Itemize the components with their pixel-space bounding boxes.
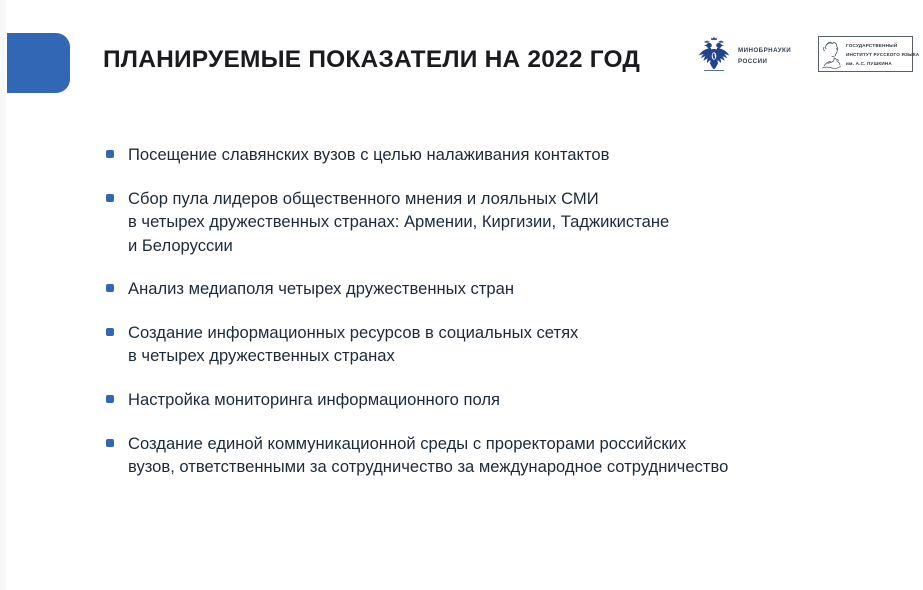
list-item-text: Настройка мониторинга информационного по… [128, 388, 500, 412]
minobrnauki-logo-text: МИНОБРНАУКИ РОССИИ [738, 45, 791, 68]
bullet-square-icon [106, 194, 114, 202]
list-item: Сбор пула лидеров общественного мнения и… [106, 187, 896, 258]
bullet-square-icon [106, 284, 114, 292]
list-item: Создание единой коммуникационной среды с… [106, 432, 896, 479]
pushkin-institute-logo-text: ГОСУДАРСТВЕННЫЙ ИНСТИТУТ РУССКОГО ЯЗЫКА … [846, 40, 919, 69]
list-item-text: Сбор пула лидеров общественного мнения и… [128, 187, 669, 258]
list-item: Настройка мониторинга информационного по… [106, 388, 896, 412]
pushkin-line-1: ГОСУДАРСТВЕННЫЙ [846, 43, 897, 48]
list-item-text: Создание единой коммуникационной среды с… [128, 432, 728, 479]
minobrnauki-line-2: РОССИИ [738, 58, 767, 65]
presentation-slide: ПЛАНИРУЕМЫЕ ПОКАЗАТЕЛИ НА 2022 ГОД [0, 0, 923, 590]
list-item: Анализ медиаполя четырех дружественных с… [106, 277, 896, 301]
list-item: Создание информационных ресурсов в социа… [106, 321, 896, 368]
slide-left-edge [0, 0, 6, 590]
double-headed-eagle-icon [697, 36, 731, 76]
pushkin-profile-icon [821, 40, 843, 70]
accent-tab-shape [7, 33, 70, 93]
bullet-square-icon [106, 395, 114, 403]
list-item-text: Посещение славянских вузов с целью налаж… [128, 143, 609, 167]
minobrnauki-logo: МИНОБРНАУКИ РОССИИ [697, 36, 791, 76]
list-item-text: Создание информационных ресурсов в социа… [128, 321, 578, 368]
bullet-square-icon [106, 328, 114, 336]
bullet-square-icon [106, 439, 114, 447]
pushkin-institute-logo: ГОСУДАРСТВЕННЫЙ ИНСТИТУТ РУССКОГО ЯЗЫКА … [818, 36, 913, 72]
minobrnauki-line-1: МИНОБРНАУКИ [738, 47, 791, 54]
pushkin-line-2: ИНСТИТУТ РУССКОГО ЯЗЫКА [846, 52, 919, 57]
list-item: Посещение славянских вузов с целью налаж… [106, 143, 896, 167]
bullet-list: Посещение славянских вузов с целью налаж… [106, 143, 896, 499]
bullet-square-icon [106, 150, 114, 158]
page-title: ПЛАНИРУЕМЫЕ ПОКАЗАТЕЛИ НА 2022 ГОД [103, 45, 673, 74]
list-item-text: Анализ медиаполя четырех дружественных с… [128, 277, 514, 301]
pushkin-line-3: им. А.С. ПУШКИНА [846, 61, 892, 66]
